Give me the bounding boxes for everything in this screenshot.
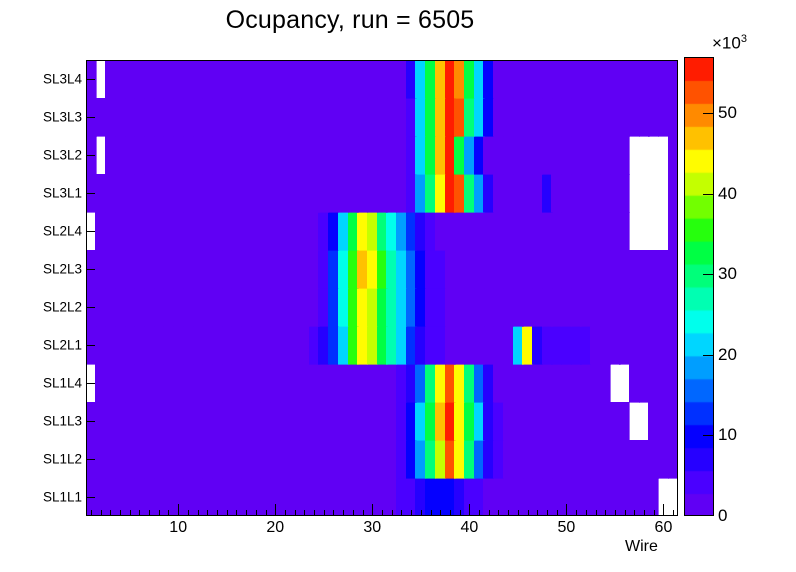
x-axis-minor-tick — [285, 510, 286, 516]
x-axis-minor-tick — [586, 510, 587, 516]
x-axis-minor-tick — [149, 510, 150, 516]
x-axis-minor-tick — [363, 510, 364, 516]
x-axis-minor-tick — [130, 510, 131, 516]
x-axis-minor-tick — [528, 510, 529, 516]
x-axis-minor-tick — [498, 510, 499, 516]
x-axis-minor-tick — [168, 510, 169, 516]
x-axis-minor-tick — [304, 510, 305, 516]
color-scale-label: 10 — [718, 425, 737, 445]
x-axis-major-tick — [469, 504, 470, 516]
x-axis-minor-tick — [401, 510, 402, 516]
x-axis-minor-tick — [256, 510, 257, 516]
x-axis-minor-tick — [188, 510, 189, 516]
x-axis-major-tick — [275, 504, 276, 516]
y-axis-label-sl1l3: SL1L3 — [43, 414, 82, 429]
y-axis-tick — [86, 117, 95, 118]
y-axis-label-sl3l1: SL3L1 — [43, 186, 82, 201]
y-axis-tick — [86, 307, 95, 308]
x-axis-minor-tick — [227, 510, 228, 516]
x-axis-title: Wire — [625, 538, 658, 556]
x-axis-minor-tick — [236, 510, 237, 516]
color-scale-label: 0 — [718, 506, 727, 526]
y-axis-tick — [86, 497, 95, 498]
x-axis-minor-tick — [460, 510, 461, 516]
x-axis-minor-tick — [246, 510, 247, 516]
x-axis-minor-tick — [431, 510, 432, 516]
x-axis-minor-tick — [101, 510, 102, 516]
x-axis-minor-tick — [207, 510, 208, 516]
x-axis-minor-tick — [547, 510, 548, 516]
y-axis-label-sl2l2: SL2L2 — [43, 300, 82, 315]
y-axis-tick — [86, 421, 95, 422]
x-axis-minor-tick — [314, 510, 315, 516]
y-axis-label-sl3l4: SL3L4 — [43, 72, 82, 87]
x-axis-minor-tick — [91, 510, 92, 516]
color-scale-bar — [684, 57, 714, 516]
exponent-power: 3 — [741, 33, 747, 45]
y-axis-label-sl3l3: SL3L3 — [43, 110, 82, 125]
color-scale-tick — [703, 355, 714, 356]
x-axis-major-tick — [663, 504, 664, 516]
x-axis-minor-tick — [392, 510, 393, 516]
color-scale-label: 40 — [718, 184, 737, 204]
color-scale-tick — [703, 274, 714, 275]
x-axis-minor-tick — [411, 510, 412, 516]
y-axis-label-sl2l4: SL2L4 — [43, 224, 82, 239]
color-scale-label: 20 — [718, 345, 737, 365]
x-axis-minor-tick — [217, 510, 218, 516]
x-axis-minor-tick — [596, 510, 597, 516]
x-axis-minor-tick — [518, 510, 519, 516]
x-axis-minor-tick — [440, 510, 441, 516]
y-axis-tick — [86, 79, 95, 80]
x-axis-minor-tick — [644, 510, 645, 516]
color-scale-tick — [703, 194, 714, 195]
x-axis-minor-tick — [450, 510, 451, 516]
x-axis-label: 20 — [266, 519, 284, 537]
x-axis-minor-tick — [353, 510, 354, 516]
x-axis-label: 60 — [655, 519, 673, 537]
x-axis-minor-tick — [625, 510, 626, 516]
x-axis-minor-tick — [479, 510, 480, 516]
y-axis-label-sl3l2: SL3L2 — [43, 148, 82, 163]
x-axis-minor-tick — [333, 510, 334, 516]
y-axis-label-sl1l4: SL1L4 — [43, 376, 82, 391]
y-axis-tick — [86, 193, 95, 194]
y-axis-tick — [86, 269, 95, 270]
y-axis-label-sl2l1: SL2L1 — [43, 338, 82, 353]
x-axis-minor-tick — [343, 510, 344, 516]
x-axis-minor-tick — [537, 510, 538, 516]
y-axis-tick — [86, 231, 95, 232]
y-axis-label-sl1l1: SL1L1 — [43, 490, 82, 505]
x-axis-major-tick — [178, 504, 179, 516]
color-scale-tick — [703, 113, 714, 114]
x-axis-major-tick — [566, 504, 567, 516]
exponent-mantissa: ×10 — [712, 34, 741, 53]
root-canvas: Ocupancy, run = 6505 SL1L1SL1L2SL1L3SL1L… — [0, 0, 796, 572]
heatmap-canvas — [86, 60, 678, 516]
x-axis-label: 30 — [363, 519, 381, 537]
x-axis-minor-tick — [295, 510, 296, 516]
y-axis-tick — [86, 383, 95, 384]
x-axis-major-tick — [372, 504, 373, 516]
x-axis-minor-tick — [198, 510, 199, 516]
x-axis-minor-tick — [139, 510, 140, 516]
x-axis-minor-tick — [421, 510, 422, 516]
x-axis-minor-tick — [634, 510, 635, 516]
heatmap-plot-area — [86, 60, 678, 516]
x-axis-label: 50 — [557, 519, 575, 537]
y-axis-tick — [86, 155, 95, 156]
color-scale-label: 50 — [718, 103, 737, 123]
y-axis-label-sl1l2: SL1L2 — [43, 452, 82, 467]
x-axis-minor-tick — [159, 510, 160, 516]
y-axis: SL1L1SL1L2SL1L3SL1L4SL2L1SL2L2SL2L3SL2L4… — [0, 60, 82, 516]
x-axis-minor-tick — [110, 510, 111, 516]
x-axis-minor-tick — [382, 510, 383, 516]
x-axis-label: 10 — [169, 519, 187, 537]
x-axis-minor-tick — [576, 510, 577, 516]
x-axis-minor-tick — [508, 510, 509, 516]
color-scale-canvas — [684, 57, 714, 516]
color-scale-label: 30 — [718, 264, 737, 284]
x-axis-minor-tick — [557, 510, 558, 516]
x-axis-minor-tick — [673, 510, 674, 516]
x-axis-minor-tick — [654, 510, 655, 516]
x-axis-minor-tick — [605, 510, 606, 516]
y-axis-tick — [86, 345, 95, 346]
color-scale-tick — [703, 435, 714, 436]
x-axis-label: 40 — [460, 519, 478, 537]
color-scale-exponent: ×103 — [712, 33, 747, 54]
x-axis-minor-tick — [266, 510, 267, 516]
x-axis-minor-tick — [615, 510, 616, 516]
y-axis-tick — [86, 459, 95, 460]
x-axis-minor-tick — [489, 510, 490, 516]
x-axis-minor-tick — [324, 510, 325, 516]
chart-title: Ocupancy, run = 6505 — [0, 6, 700, 35]
x-axis-minor-tick — [120, 510, 121, 516]
y-axis-label-sl2l3: SL2L3 — [43, 262, 82, 277]
